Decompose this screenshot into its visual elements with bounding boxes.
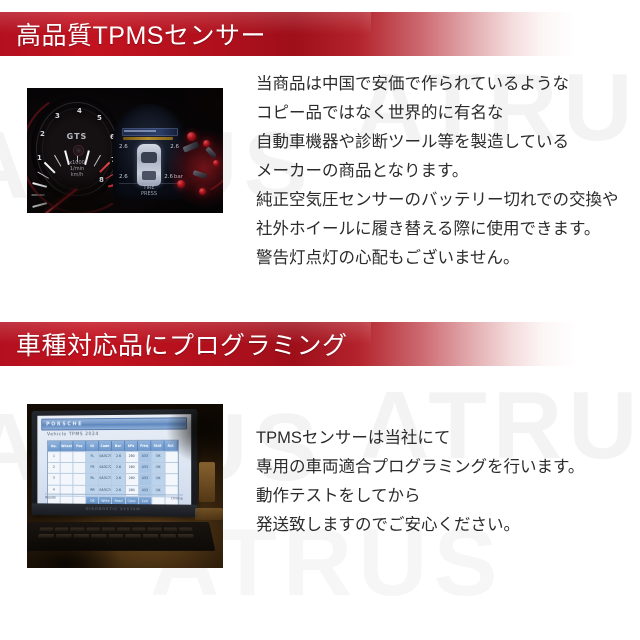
table-header-cell: Freq [138, 441, 151, 451]
table-header-cell: No. [48, 441, 61, 451]
keyboard-key [178, 534, 194, 538]
table-header-cell: Wheel [61, 441, 74, 451]
status-left-text: Ready [45, 495, 56, 501]
table-row[interactable]: 3 RL 0A3C73 2.6 260 433 OK [48, 474, 178, 486]
tachometer-number: 3 [55, 112, 60, 120]
laptop-screen: PORSCHE Vehicle TPMS 2024 No. Wheel Pos … [37, 414, 191, 505]
tpms-sensor-part [199, 188, 206, 195]
keyboard-key [143, 534, 159, 538]
table-cell [61, 452, 74, 462]
keyboard-row [39, 527, 192, 531]
tachometer-gauge: 1 2 3 4 5 6 7 8 GTS x1000 1/min km/h [31, 96, 123, 202]
keyboard-key [38, 534, 54, 538]
section-body-text-quality: 当商品は中国で安価で作られているような コピー品ではなく世界的に有名な 自動車機… [256, 70, 619, 273]
tpms-divider [119, 183, 179, 184]
tpms-footer: TIRE PRESS [113, 185, 185, 197]
tachometer-number: 8 [99, 176, 104, 184]
table-cell: 0A3C71 [99, 452, 112, 462]
table-cell: RL [86, 474, 99, 484]
table-cell: FR [86, 463, 99, 473]
section-banner-title: 車種対応品にプログラミング [16, 326, 348, 362]
table-cell: 0A3C72 [99, 463, 112, 473]
table-cell: 260 [126, 474, 139, 484]
tachometer-hub [73, 145, 84, 156]
section-body-text-programming: TPMSセンサーは当社にて 専用の車両適合プログラミングを行います。 動作テスト… [256, 424, 584, 540]
section-banner-programming: 車種対応品にプログラミング [0, 322, 640, 366]
keyboard-row [38, 534, 194, 538]
keyboard-key [101, 527, 115, 531]
table-cell: OK [152, 452, 165, 462]
keyboard-key [108, 534, 123, 538]
keyboard-key [86, 527, 100, 531]
section-banner-title: 高品質TPMSセンサー [16, 16, 266, 52]
table-header-row: No. Wheel Pos ID Code Bar kPa Freq Stat … [48, 441, 178, 452]
status-right-text: Online [171, 495, 183, 501]
tpms-sensor-part [177, 180, 185, 188]
laptop-diagnostic-photo: PORSCHE Vehicle TPMS 2024 No. Wheel Pos … [27, 404, 223, 568]
tachometer-sublabels: x1000 1/min km/h [69, 160, 85, 178]
table-row[interactable]: 2 FR 0A3C72 2.6 260 433 OK [48, 463, 178, 474]
keyboard-key [132, 527, 146, 531]
table-cell [165, 463, 177, 473]
table-header-cell: Code [99, 441, 112, 451]
table-cell: 260 [126, 452, 139, 462]
table-cell: 2 [48, 463, 61, 473]
table-header-cell: Pos [73, 441, 86, 451]
software-logo: PORSCHE [46, 421, 83, 427]
tpms-car-diagram [137, 144, 161, 186]
keyboard-key [55, 527, 69, 531]
laptop-brand-text: DIAGNOSTIC SYSTEM [86, 507, 141, 512]
table-cell: 2.6 [112, 474, 125, 484]
table-cell: OK [152, 463, 165, 473]
table-cell: 433 [139, 452, 152, 462]
table-cell [74, 474, 87, 484]
table-header-cell: kPa [125, 441, 138, 451]
body-text-line: 警告灯点灯の心配もございません。 [256, 244, 619, 273]
table-cell: FL [86, 452, 99, 462]
table-cell: 2.6 [112, 452, 125, 462]
table-cell [61, 463, 74, 473]
table-header-cell: Bar [112, 441, 125, 451]
body-text-line: 動作テストをしてから [256, 482, 584, 511]
table-cell: OK [152, 475, 165, 485]
tachometer-number: 5 [97, 114, 102, 122]
software-status-bar: Ready Online [45, 494, 183, 502]
body-text-line: 純正空気圧センサーのバッテリー切れでの交換や [256, 186, 619, 215]
table-cell: 3 [48, 474, 61, 484]
table-cell [61, 474, 74, 484]
tpms-pressure-value: 2.6 [170, 144, 179, 150]
tachometer-number: 2 [40, 130, 45, 138]
tpms-amber-bar [123, 137, 173, 140]
keyboard-key [163, 527, 177, 531]
body-text-line: 専用の車両適合プログラミングを行います。 [256, 453, 584, 482]
tpms-sensor-part [187, 132, 196, 141]
keyboard-key [56, 534, 72, 538]
table-cell [74, 463, 87, 473]
tachometer-number: 1 [37, 154, 42, 162]
body-text-line: コピー品ではなく世界的に有名な [256, 99, 619, 128]
table-cell: 0A3C73 [99, 474, 112, 484]
keyboard-key [73, 534, 89, 538]
laptop-lid: PORSCHE Vehicle TPMS 2024 No. Wheel Pos … [32, 409, 198, 517]
body-text-line: 発送致しますのでご安心ください。 [256, 511, 584, 540]
tpms-pressure-value: 2.6 [164, 174, 173, 180]
keyboard-key [179, 527, 193, 531]
body-text-line: TPMSセンサーは当社にて [256, 424, 584, 453]
laptop-keyboard [27, 522, 215, 551]
instrument-cluster-photo: 1 2 3 4 5 6 7 8 GTS x1000 1/min km/h 2.6… [27, 88, 223, 213]
software-titlebar: PORSCHE [41, 417, 187, 430]
body-text-line: 当商品は中国で安価で作られているような [256, 70, 619, 99]
keyboard-key [117, 527, 130, 531]
table-header-cell: Act [165, 441, 178, 451]
desk-object [199, 462, 215, 502]
software-breadcrumb: Vehicle TPMS 2024 [47, 432, 99, 437]
table-cell [165, 475, 177, 485]
table-header-cell: Stat [151, 441, 164, 451]
table-cell: 1 [48, 452, 61, 462]
keyboard-key [148, 527, 162, 531]
table-cell: 433 [139, 474, 152, 484]
desk-object [195, 508, 223, 520]
laptop-bezel-bottom: DIAGNOSTIC SYSTEM [32, 503, 198, 517]
tachometer-sublabel: km/h [69, 172, 85, 178]
table-header-cell: ID [86, 441, 99, 451]
tpms-pressure-value: 2.6 [119, 144, 128, 150]
tpms-gauge-bar [122, 128, 178, 136]
table-cell [165, 452, 177, 462]
keyboard-key [91, 534, 107, 538]
keyboard-key [126, 534, 142, 538]
gts-badge: GTS [67, 132, 88, 141]
table-cell: 2.6 [112, 463, 125, 473]
table-cell: 433 [139, 463, 152, 473]
tpms-sensor-part [213, 160, 219, 166]
table-cell [74, 452, 87, 462]
tachometer-number: 4 [77, 107, 82, 115]
tpms-display-panel: 2.6 2.6 2.6 2.6 bar TIRE PRESS [113, 104, 185, 200]
keyboard-key [70, 527, 84, 531]
body-text-line: 社外ホイールに履き替える際に使用できます。 [256, 215, 619, 244]
tpms-footer-line: PRESS [113, 191, 185, 197]
keyboard-key [39, 527, 53, 531]
body-text-line: メーカーの商品となります。 [256, 157, 619, 186]
table-cell: 260 [126, 463, 139, 473]
body-text-line: 自動車機器や診断ツール等を製造している [256, 128, 619, 157]
keyboard-key [160, 534, 176, 538]
tpms-pressure-value: 2.6 [119, 174, 128, 180]
table-row[interactable]: 1 FL 0A3C71 2.6 260 433 OK [48, 452, 178, 463]
section-banner-quality: 高品質TPMSセンサー [0, 12, 640, 56]
